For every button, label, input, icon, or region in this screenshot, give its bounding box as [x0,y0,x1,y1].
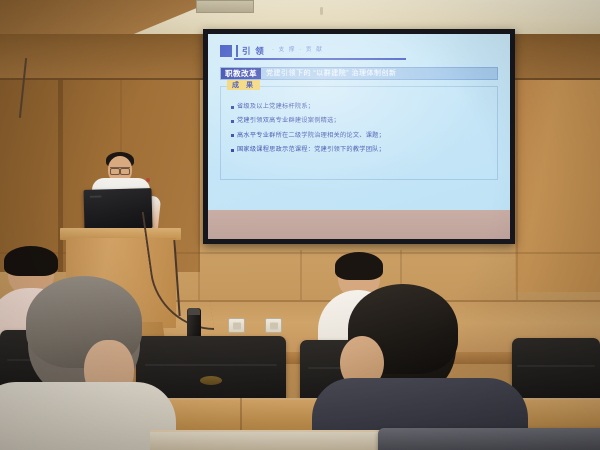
laptop-foreground [378,428,600,450]
list-item: 省级及以上党建标杆院系； [231,104,491,111]
bullet-square-icon [231,106,234,109]
hair [335,252,383,280]
chair-crest-icon [200,376,222,385]
wall-outlet [265,318,282,333]
photo-scene: 引 领 · 支 撑 · 贡 献 职教改革 党建引领下的 “以群建院” 治理体制创… [0,0,600,450]
microphone-icon [146,178,150,182]
chair-seam [517,365,594,367]
wall-panel-seam [300,250,302,305]
hair [4,246,58,276]
laptop [83,188,152,230]
slide-bullet-list: 省级及以上党建标杆院系； 党建引领双高专业群建设案例精选； 高水平专业群所在二级… [231,104,491,154]
bullet-text: 国家级课程思政示范课程：党建引领下的教学团队； [237,147,385,154]
bullet-text: 党建引领双高专业群建设案例精选； [237,118,340,125]
bullet-text: 省级及以上党建标杆院系； [237,104,314,111]
projection-screen-surface: 引 领 · 支 撑 · 贡 献 职教改革 党建引领下的 “以群建院” 治理体制创… [208,34,510,239]
slide-header: 引 领 · 支 撑 · 贡 献 [220,44,498,58]
slide-results-badge: 成 果 [227,80,260,90]
desk-front-edge [150,430,380,450]
slide-bottom-band [208,210,510,239]
bullet-square-icon [231,149,234,152]
wall-outlet [228,318,245,333]
bullet-square-icon [231,120,234,123]
speaker-glasses [110,167,130,172]
slide-header-title: 引 领 [242,47,265,56]
slide-title-bar: 职教改革 党建引领下的 “以群建院” 治理体制创新 [220,67,498,80]
slide-title-tag: 职教改革 [221,68,261,79]
projection-screen: 引 领 · 支 撑 · 贡 献 职教改革 党建引领下的 “以群建院” 治理体制创… [203,29,515,244]
slide-header-square-icon [220,45,232,57]
bullet-square-icon [231,134,234,137]
presentation-slide: 引 领 · 支 撑 · 贡 献 职教改革 党建引领下的 “以群建院” 治理体制创… [208,34,510,210]
slide-content-box: 成 果 省级及以上党建标杆院系； 党建引领双高专业群建设案例精选； 高水平 [220,86,498,180]
slide-header-rule [234,58,406,60]
list-item: 党建引领双高专业群建设案例精选； [231,118,491,125]
ceiling-vent [196,0,254,13]
list-item: 国家级课程思政示范课程：党建引领下的教学团队； [231,147,491,154]
slide-title-text: 党建引领下的 “以群建院” 治理体制创新 [261,68,402,79]
slide-header-subtitle: · 支 撑 · 贡 献 [272,48,323,54]
slide-header-bar-icon [236,45,238,57]
chair-seam [145,364,277,366]
list-item: 高水平专业群所在二级学院治理相关的论文、课题； [231,133,491,140]
ceiling-fixture [320,7,323,15]
bullet-text: 高水平专业群所在二级学院治理相关的论文、课题； [237,133,385,140]
